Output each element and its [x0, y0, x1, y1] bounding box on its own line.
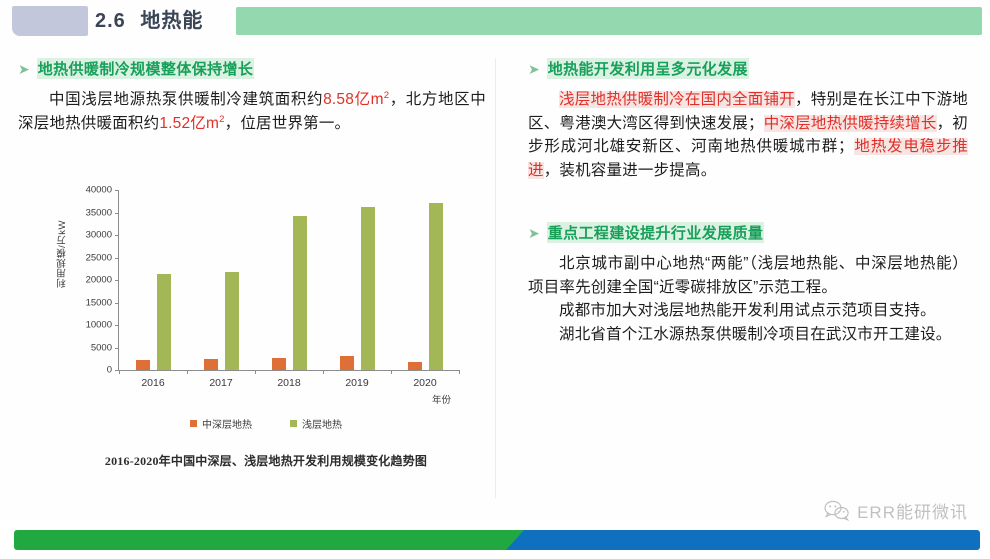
chart-bar	[157, 274, 171, 370]
chart-y-tick-label: 20000	[86, 275, 112, 286]
chart-y-tick-label: 5000	[91, 342, 112, 353]
chart-y-tick-label: 30000	[86, 230, 112, 241]
left-paragraph: 中国浅层地源热泵供暖制冷建筑面积约8.58亿m2，北方地区中深层地热供暖面积约1…	[18, 88, 486, 135]
footer-blue-bar	[506, 530, 980, 550]
right-heading-2-label: 重点工程建设提升行业发展质量	[547, 222, 765, 243]
slide-header: 2.6 地热能	[0, 0, 990, 48]
chart-x-axis-label: 年份	[432, 392, 451, 406]
right-paragraph-2: 北京城市副中心地热“两能”（浅层地热能、中深层地热能）项目率先创建全国“近零碳排…	[528, 252, 968, 299]
right-para1-highlight-2: 中深层地热供暖持续增长	[764, 115, 937, 132]
chart-bar-group	[255, 190, 323, 370]
column-divider	[495, 58, 496, 498]
chart-x-tick-label: 2018	[277, 377, 300, 389]
chart-y-tick-label: 35000	[86, 207, 112, 218]
arrow-bullet-icon: ➤	[18, 62, 30, 76]
chart-legend-item: 中深层地热	[190, 416, 252, 431]
chart-bar	[361, 207, 375, 370]
chart-legend-label: 中深层地热	[202, 416, 252, 431]
left-para-highlight-1: 8.58亿m	[323, 91, 384, 108]
arrow-bullet-icon: ➤	[528, 226, 540, 240]
chart-x-tick-mark	[119, 370, 120, 374]
chart-legend-swatch	[290, 420, 297, 427]
chart-bar	[340, 356, 354, 370]
chart-bar-group	[187, 190, 255, 370]
left-heading-label: 地热供暖制冷规模整体保持增长	[37, 58, 255, 79]
chart-x-tick-label: 2017	[209, 377, 232, 389]
left-column: ➤ 地热供暖制冷规模整体保持增长 中国浅层地源热泵供暖制冷建筑面积约8.58亿m…	[18, 58, 486, 498]
chart-x-tick-mark	[323, 370, 324, 374]
chart-x-tick-mark	[255, 370, 256, 374]
chart-x-tick-label: 2020	[413, 377, 436, 389]
right-paragraph-1: 浅层地热供暖制冷在国内全面铺开，特别是在长江中下游地区、粤港澳大湾区得到快速发展…	[528, 88, 968, 182]
chart-bar-group	[391, 190, 459, 370]
chart-caption: 2016-2020年中国中深层、浅层地热开发利用规模变化趋势图	[40, 452, 492, 469]
chart-bar	[225, 272, 239, 370]
slide-canvas: 2.6 地热能 ➤ 地热供暖制冷规模整体保持增长 中国浅层地源热泵供暖制冷建筑面…	[0, 0, 990, 559]
chart-legend-item: 浅层地热	[290, 416, 342, 431]
header-accent-bar	[236, 7, 982, 35]
chart-legend-swatch	[190, 420, 197, 427]
left-para-highlight-2: 1.52亿m	[159, 115, 219, 132]
chart-x-tick-label: 2016	[141, 377, 164, 389]
chart-plot-area: 0500010000150002000025000300003500040000…	[118, 190, 459, 371]
wechat-icon	[824, 500, 850, 522]
chart-bar	[429, 203, 443, 370]
arrow-bullet-icon: ➤	[528, 62, 540, 76]
right-paragraph-3: 成都市加大对浅层地热能开发利用试点示范项目支持。	[528, 299, 968, 323]
right-heading-1-label: 地热能开发利用呈多元化发展	[547, 58, 749, 79]
slide-footer	[0, 521, 990, 559]
chart-x-tick-label: 2019	[345, 377, 368, 389]
section-number: 2.6	[95, 10, 126, 32]
footer-green-bar	[14, 530, 534, 550]
page-title: 2.6 地热能	[95, 6, 203, 36]
watermark: ERR能研微讯	[824, 498, 968, 523]
section-number-box	[12, 6, 88, 36]
chart-y-tick-label: 0	[107, 365, 112, 376]
left-heading: ➤ 地热供暖制冷规模整体保持增长	[18, 58, 486, 79]
chart-y-tick-label: 15000	[86, 297, 112, 308]
chart-legend: 中深层地热浅层地热	[40, 416, 492, 431]
right-column: ➤ 地热能开发利用呈多元化发展 浅层地热供暖制冷在国内全面铺开，特别是在长江中下…	[528, 58, 968, 498]
chart-bar	[204, 359, 218, 370]
chart-y-tick-label: 40000	[86, 185, 112, 196]
right-para1-highlight-1: 浅层地热供暖制冷在国内全面铺开	[559, 91, 795, 108]
right-paragraph-4: 湖北省首个江水源热泵供暖制冷项目在武汉市开工建设。	[528, 323, 968, 347]
chart-legend-label: 浅层地热	[302, 416, 342, 431]
chart-x-tick-mark	[459, 370, 460, 374]
watermark-label: ERR能研微讯	[857, 498, 968, 523]
left-para-seg1: 中国浅层地源热泵供暖制冷建筑面积约	[49, 91, 323, 108]
chart-bar-group	[119, 190, 187, 370]
chart-bar	[272, 358, 286, 370]
right-para1-seg3: ，装机容量进一步提高。	[544, 162, 717, 179]
chart-bar	[293, 216, 307, 370]
right-heading-2: ➤ 重点工程建设提升行业发展质量	[528, 222, 968, 243]
chart-y-tick-label: 25000	[86, 252, 112, 263]
chart-bar-group	[323, 190, 391, 370]
chart-x-tick-mark	[391, 370, 392, 374]
right-heading-1: ➤ 地热能开发利用呈多元化发展	[528, 58, 968, 79]
chart-bar	[136, 360, 150, 370]
geothermal-bar-chart: 利用规模/万kW 0500010000150002000025000300003…	[40, 180, 492, 550]
chart-x-tick-mark	[187, 370, 188, 374]
chart-bar	[408, 362, 422, 370]
left-para-seg3: ，位居世界第一。	[225, 115, 351, 132]
section-title: 地热能	[140, 10, 203, 32]
chart-y-tick-label: 10000	[86, 320, 112, 331]
chart-y-axis-label: 利用规模/万kW	[56, 220, 70, 288]
